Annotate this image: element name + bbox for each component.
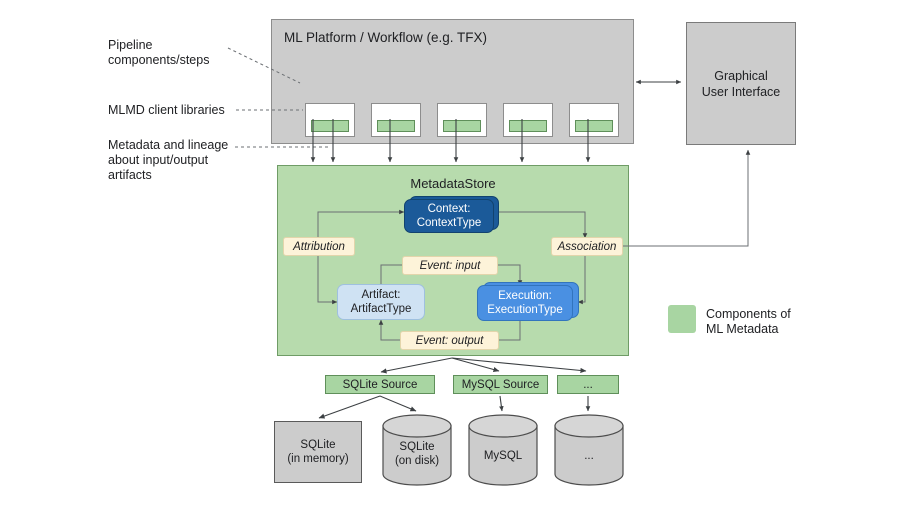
- attribution-label: Attribution: [283, 237, 355, 256]
- pipeline-component-1[interactable]: [305, 103, 355, 137]
- mysql-source-box[interactable]: MySQL Source: [453, 375, 548, 394]
- annotation-metadata-lineage: Metadata and lineage about input/output …: [108, 138, 268, 183]
- pipeline-component-5[interactable]: [569, 103, 619, 137]
- other-backend-cylinder[interactable]: ...: [554, 414, 624, 486]
- mlmd-client-library-bar-3: [443, 120, 481, 132]
- association-to-gui-link: [623, 150, 748, 246]
- sqlite-in-memory-box[interactable]: SQLite (in memory): [274, 421, 362, 483]
- mysql-label: MySQL: [468, 449, 538, 463]
- association-label: Association: [551, 237, 623, 256]
- annotation-mlmd-client-libraries: MLMD client libraries: [108, 103, 278, 118]
- diagram-canvas: Pipeline components/steps MLMD client li…: [0, 0, 900, 506]
- sqlite-source-box[interactable]: SQLite Source: [325, 375, 435, 394]
- mysql-cylinder[interactable]: MySQL: [468, 414, 538, 486]
- sources-to-backends-arrows: [319, 396, 588, 418]
- store-to-sources-arrows: [381, 358, 586, 372]
- legend-label: Components of ML Metadata: [706, 307, 846, 337]
- other-source-box[interactable]: ...: [557, 375, 619, 394]
- mlmd-client-library-bar-2: [377, 120, 415, 132]
- ml-platform-panel: ML Platform / Workflow (e.g. TFX): [271, 19, 634, 144]
- pipeline-component-4[interactable]: [503, 103, 553, 137]
- pipeline-component-2[interactable]: [371, 103, 421, 137]
- graphical-user-interface-box[interactable]: Graphical User Interface: [686, 22, 796, 145]
- execution-node[interactable]: Execution: ExecutionType: [477, 285, 573, 321]
- context-node[interactable]: Context: ContextType: [404, 199, 494, 233]
- legend-color-swatch: [668, 305, 696, 333]
- mlmd-client-library-bar-5: [575, 120, 613, 132]
- event-input-label: Event: input: [402, 256, 498, 275]
- pipeline-component-3[interactable]: [437, 103, 487, 137]
- mlmd-client-library-bar-4: [509, 120, 547, 132]
- artifact-node[interactable]: Artifact: ArtifactType: [337, 284, 425, 320]
- event-output-label: Event: output: [400, 331, 499, 350]
- metadata-store-title: MetadataStore: [278, 176, 628, 191]
- ml-platform-title: ML Platform / Workflow (e.g. TFX): [284, 30, 487, 45]
- mlmd-client-library-bar-1: [311, 120, 349, 132]
- other-backend-label: ...: [554, 449, 624, 463]
- annotation-pipeline-components: Pipeline components/steps: [108, 38, 258, 68]
- sqlite-on-disk-label: SQLite (on disk): [382, 440, 452, 468]
- sqlite-on-disk-cylinder[interactable]: SQLite (on disk): [382, 414, 452, 486]
